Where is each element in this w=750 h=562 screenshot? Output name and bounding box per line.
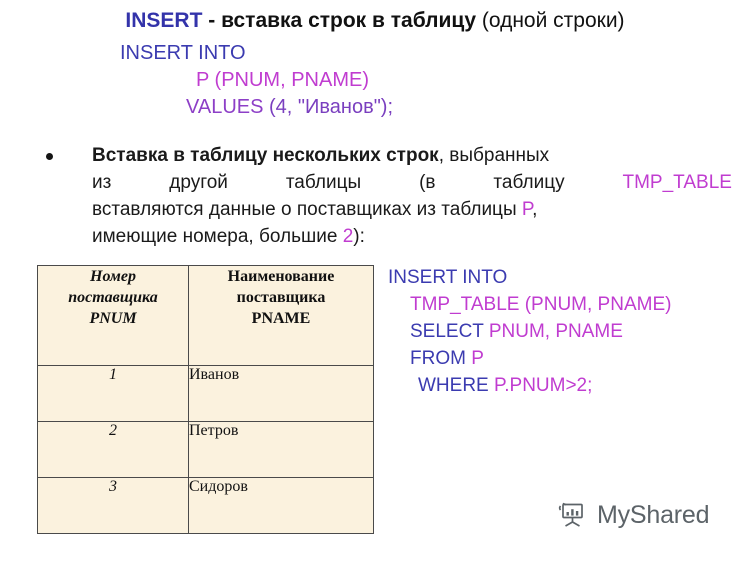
paragraph-accent-two: 2 xyxy=(343,226,354,247)
sql-keyword-insert-into: INSERT INTO xyxy=(120,42,246,64)
watermark: MyShared xyxy=(556,496,709,535)
header-pname-line-1: Наименование xyxy=(189,266,373,287)
sql-block-single-insert: INSERT INTO P (PNUM, PNAME) VALUES (4, "… xyxy=(120,40,393,121)
table-header-row: Номер поставщика PNUM Наименование поста… xyxy=(38,266,374,366)
paragraph-word-iz: из xyxy=(92,169,111,196)
table-header-pname: Наименование поставщика PNAME xyxy=(189,266,374,366)
header-pname-line-2: поставщика xyxy=(189,287,373,308)
header-pname-line-3: PNAME xyxy=(189,308,373,329)
sql-line-from: FROM P xyxy=(388,345,671,372)
presentation-board-icon xyxy=(556,496,590,535)
sql-where-condition: P.PNUM>2; xyxy=(489,375,593,396)
paragraph-word-drugoy: другой xyxy=(169,169,228,196)
title-paren-part: (одной строки) xyxy=(482,9,625,32)
sql-line-tmp-table: TMP_TABLE (PNUM, PNAME) xyxy=(388,291,671,318)
header-pnum-line-1: Номер xyxy=(38,266,188,287)
bullet-paragraph: Вставка в таблицу нескольких строк, выбр… xyxy=(92,142,732,250)
sql-identifier-p-columns: P (PNUM, PNAME) xyxy=(196,69,369,91)
sql-line-target-table: P (PNUM, PNAME) xyxy=(120,67,393,94)
paragraph-word-v: (в xyxy=(419,169,435,196)
cell-pname: Иванов xyxy=(189,366,374,422)
sql-line-select: SELECT PNUM, PNAME xyxy=(388,318,671,345)
title-bold-part: - вставка строк в таблицу xyxy=(202,9,481,32)
table-row: 2 Петров xyxy=(38,422,374,478)
sql-line-insert-into: INSERT INTO xyxy=(120,40,393,67)
cell-pnum: 3 xyxy=(38,478,189,534)
page-title: INSERT - вставка строк в таблицу (одной … xyxy=(0,8,750,34)
paragraph-line-1-bold: Вставка в таблицу нескольких строк xyxy=(92,145,439,166)
sql-select-columns: PNUM, PNAME xyxy=(484,321,623,342)
sql-values-tuple: (4, "Иванов"); xyxy=(263,96,393,118)
paragraph-accent-tmp-table: TMP_TABLE xyxy=(623,169,732,196)
title-keyword: INSERT xyxy=(125,9,202,32)
paragraph-word-tablitsu: таблицу xyxy=(493,169,564,196)
paragraph-line-4-pre: имеющие номера, большие xyxy=(92,226,343,247)
sql-identifier-tmp-table-columns: TMP_TABLE (PNUM, PNAME) xyxy=(410,294,671,315)
sql-from-table: P xyxy=(466,348,484,369)
sql-line-where: WHERE P.PNUM>2; xyxy=(388,372,671,399)
sql-keyword-where: WHERE xyxy=(418,375,489,396)
supplier-table: Номер поставщика PNUM Наименование поста… xyxy=(37,265,374,534)
sql-line-values: VALUES (4, "Иванов"); xyxy=(120,94,393,121)
cell-pname: Сидоров xyxy=(189,478,374,534)
cell-pnum: 1 xyxy=(38,366,189,422)
table-header-pnum: Номер поставщика PNUM xyxy=(38,266,189,366)
table-row: 1 Иванов xyxy=(38,366,374,422)
paragraph-word-tablitsy: таблицы xyxy=(286,169,361,196)
sql-keyword-insert-into-2: INSERT INTO xyxy=(388,267,507,288)
paragraph-line-3-pre: вставляются данные о поставщиках из табл… xyxy=(92,199,522,220)
header-pnum-line-2: поставщика xyxy=(38,287,188,308)
table-row: 3 Сидоров xyxy=(38,478,374,534)
watermark-text: MyShared xyxy=(597,501,709,530)
sql-line-insert-into-2: INSERT INTO xyxy=(388,264,671,291)
paragraph-line-1: Вставка в таблицу нескольких строк, выбр… xyxy=(92,142,732,169)
paragraph-line-4-post: ): xyxy=(353,226,365,247)
header-pnum-line-3: PNUM xyxy=(38,308,188,329)
sql-block-insert-select: INSERT INTO TMP_TABLE (PNUM, PNAME) SELE… xyxy=(388,264,671,399)
sql-keyword-values: VALUES xyxy=(186,96,263,118)
paragraph-line-1-rest: , выбранных xyxy=(439,145,549,166)
paragraph-line-3: вставляются данные о поставщиках из табл… xyxy=(92,196,732,223)
bullet-dot-icon xyxy=(46,153,53,160)
paragraph-line-4: имеющие номера, большие 2): xyxy=(92,223,732,250)
sql-keyword-from: FROM xyxy=(410,348,466,369)
cell-pnum: 2 xyxy=(38,422,189,478)
cell-pname: Петров xyxy=(189,422,374,478)
paragraph-line-3-post: , xyxy=(532,199,537,220)
paragraph-line-2: из другой таблицы (в таблицу TMP_TABLE xyxy=(92,169,732,196)
sql-keyword-select: SELECT xyxy=(410,321,484,342)
paragraph-accent-p: P xyxy=(522,199,532,220)
slide-canvas: INSERT - вставка строк в таблицу (одной … xyxy=(0,0,750,562)
